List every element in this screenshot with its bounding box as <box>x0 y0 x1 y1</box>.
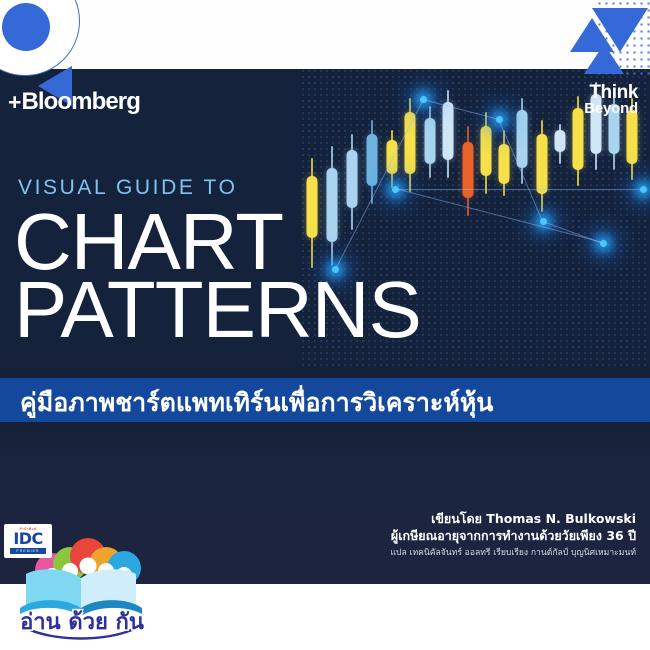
reading-logo-text: อ่าน ด้วย กัน <box>14 604 150 639</box>
think-beyond-line2: Beyond <box>584 102 638 116</box>
subtitle-thai: คู่มือภาพชาร์ตแพทเทิร์นเพื่อการวิเคราะห์… <box>20 383 493 423</box>
bloomberg-wordmark: Bloomberg <box>21 88 140 116</box>
idc-wordmark: IDC <box>4 532 52 547</box>
book-cover: + Bloomberg Think Beyond VISUAL GUIDE TO… <box>0 0 650 650</box>
author-note: ผู้เกษียณอายุจากการทำงานด้วยวัยเพียง 36 … <box>391 528 636 545</box>
byline-block: เขียนโดย Thomas N. Bulkowski ผู้เกษียณอา… <box>391 511 636 560</box>
circle-dot-decoration <box>2 3 50 51</box>
author-line: เขียนโดย Thomas N. Bulkowski <box>391 511 636 528</box>
triangle-up-small-icon <box>584 44 624 74</box>
translator-line: แปล เทคนิคัลจันทร์ ออลทรี เรียบเรียง กาน… <box>391 547 636 560</box>
idc-publisher-badge: สำนักพิมพ์ IDC PREMIER <box>4 524 52 558</box>
bloomberg-logo: + Bloomberg <box>8 88 140 116</box>
header-white-band <box>0 0 650 69</box>
bloomberg-plus-glyph: + <box>8 91 21 114</box>
triangle-mark-decoration <box>566 0 650 78</box>
title-line-2: PATTERNS <box>14 272 421 349</box>
reading-logo: อ่าน ด้วย กัน <box>6 564 156 642</box>
idc-premier-bar: PREMIER <box>10 548 46 554</box>
think-beyond-logo: Think Beyond <box>584 84 638 116</box>
